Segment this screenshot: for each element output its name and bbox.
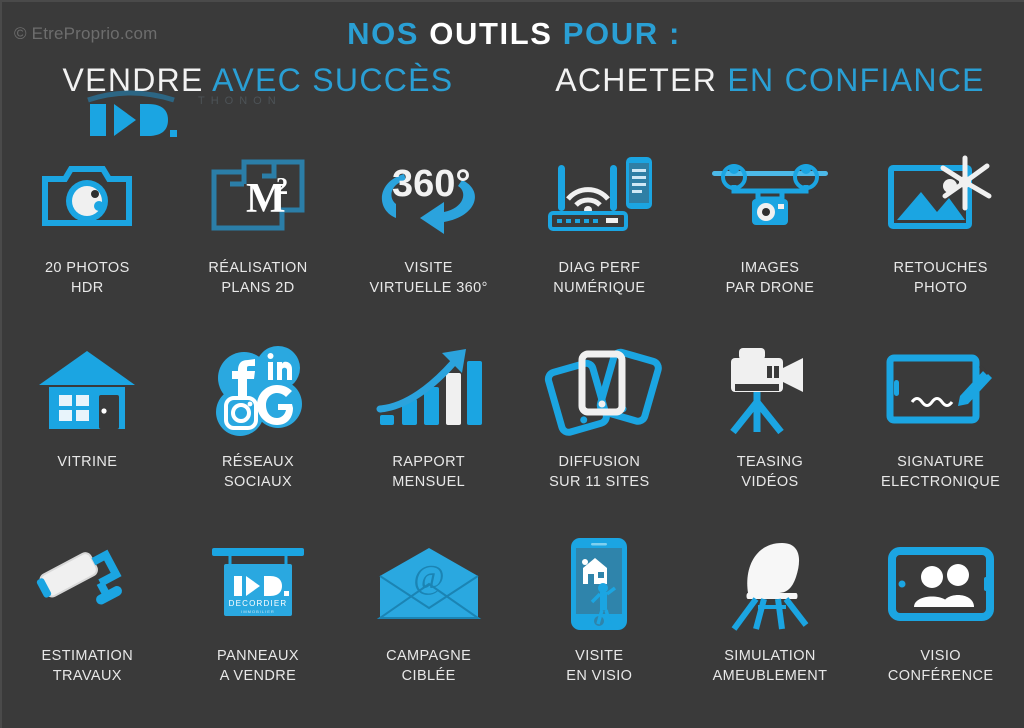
phone-visit-icon — [534, 532, 664, 636]
growth-chart-icon — [364, 338, 494, 442]
logo-location-label: THONON — [198, 95, 282, 107]
camera-icon — [22, 144, 152, 248]
subtitle-left: VENDRE AVEC SUCCÈS — [2, 62, 514, 99]
subtitles-row: VENDRE AVEC SUCCÈS ACHETER EN CONFIANCE — [2, 62, 1024, 99]
svg-text:IMMOBILIER: IMMOBILIER — [241, 609, 275, 614]
title-part-3: POUR : — [563, 16, 681, 51]
tool-card-diffusion-11-sites[interactable]: DIFFUSION SUR 11 SITES — [514, 332, 685, 526]
tool-card-visite-en-visio[interactable]: VISITE EN VISIO — [514, 526, 685, 720]
tool-label: VISITE VIRTUELLE 360° — [369, 258, 487, 298]
tool-card-retouches-photo[interactable]: RETOUCHES PHOTO — [855, 138, 1024, 332]
tool-card-vitrine[interactable]: VITRINE — [2, 332, 173, 526]
tool-card-diag-perf-numerique[interactable]: DIAG PERF NUMÉRIQUE — [514, 138, 685, 332]
tool-card-campagne-ciblee[interactable]: @ CAMPAGNE CIBLÉE — [343, 526, 514, 720]
tool-label: SIGNATURE ELECTRONIQUE — [881, 452, 1000, 492]
tool-card-20-photos-hdr[interactable]: 20 PHOTOS HDR — [2, 138, 173, 332]
subtitle-right-part-1: ACHETER — [555, 62, 727, 98]
tool-card-images-par-drone[interactable]: IMAGES PAR DRONE — [685, 138, 856, 332]
floorplan-m2-icon: M 2 — [193, 144, 323, 248]
drone-icon — [705, 144, 835, 248]
paint-roller-icon — [22, 532, 152, 636]
tool-card-reseaux-sociaux[interactable]: RÉSEAUX SOCIAUX — [173, 332, 344, 526]
tool-label: PANNEAUX A VENDRE — [217, 646, 299, 686]
svg-text:360°: 360° — [392, 163, 471, 205]
video-conference-icon — [876, 532, 1006, 636]
tool-label: CAMPAGNE CIBLÉE — [386, 646, 471, 686]
tool-label: DIAG PERF NUMÉRIQUE — [553, 258, 645, 298]
tool-card-teasing-videos[interactable]: TEASING VIDÉOS — [685, 332, 856, 526]
tool-card-panneaux-a-vendre[interactable]: DECORDIER IMMOBILIER PANNEAUX A VENDRE — [173, 526, 344, 720]
tablets-icon — [534, 338, 664, 442]
tool-card-signature-electronique[interactable]: SIGNATURE ELECTRONIQUE — [855, 332, 1024, 526]
tool-card-estimation-travaux[interactable]: ESTIMATION TRAVAUX — [2, 526, 173, 720]
tool-label: VISITE EN VISIO — [566, 646, 632, 686]
svg-text:2: 2 — [276, 174, 288, 200]
subtitle-left-part-2: AVEC SUCCÈS — [212, 62, 453, 98]
subtitle-left-part-1: VENDRE — [63, 62, 213, 98]
tool-label: TEASING VIDÉOS — [737, 452, 803, 492]
video-camera-icon — [705, 338, 835, 442]
tool-label: RÉALISATION PLANS 2D — [208, 258, 307, 298]
tool-label: ESTIMATION TRAVAUX — [42, 646, 134, 686]
house-icon — [22, 338, 152, 442]
tool-card-visite-360[interactable]: 360° VISITE VIRTUELLE 360° — [343, 138, 514, 332]
svg-text:@: @ — [413, 559, 444, 596]
tool-card-simulation-ameublement[interactable]: SIMULATION AMEUBLEMENT — [685, 526, 856, 720]
tools-grid: 20 PHOTOS HDR M 2 RÉALISATION PLANS 2D — [2, 138, 1024, 720]
title-part-2: OUTILS — [429, 16, 562, 51]
tool-label: SIMULATION AMEUBLEMENT — [713, 646, 828, 686]
360-arrows-icon: 360° — [364, 144, 494, 248]
signature-tablet-icon — [876, 338, 1006, 442]
poster-root: © EtreProprio.com NOS OUTILS POUR : VEND… — [0, 0, 1024, 728]
tool-label: VITRINE — [57, 452, 117, 472]
tool-card-plans-2d[interactable]: M 2 RÉALISATION PLANS 2D — [173, 138, 344, 332]
chair-icon — [705, 532, 835, 636]
tool-label: RAPPORT MENSUEL — [392, 452, 465, 492]
tool-label: RÉSEAUX SOCIAUX — [222, 452, 294, 492]
tool-label: 20 PHOTOS HDR — [45, 258, 130, 298]
tool-label: IMAGES PAR DRONE — [726, 258, 815, 298]
svg-text:DECORDIER: DECORDIER — [229, 599, 288, 608]
social-networks-icon — [193, 338, 323, 442]
title-part-1: NOS — [347, 16, 429, 51]
tool-label: DIFFUSION SUR 11 SITES — [549, 452, 649, 492]
tool-label: RETOUCHES PHOTO — [893, 258, 987, 298]
for-sale-sign-icon: DECORDIER IMMOBILIER — [193, 532, 323, 636]
subtitle-right-part-2: EN CONFIANCE — [727, 62, 984, 98]
tool-label: VISIO CONFÉRENCE — [888, 646, 994, 686]
tool-card-visio-conference[interactable]: VISIO CONFÉRENCE — [855, 526, 1024, 720]
photo-retouch-icon — [876, 144, 1006, 248]
tool-card-rapport-mensuel[interactable]: RAPPORT MENSUEL — [343, 332, 514, 526]
router-wifi-icon — [534, 144, 664, 248]
email-at-icon: @ — [364, 532, 494, 636]
subtitle-right: ACHETER EN CONFIANCE — [514, 62, 1024, 99]
page-title: NOS OUTILS POUR : — [2, 16, 1024, 52]
